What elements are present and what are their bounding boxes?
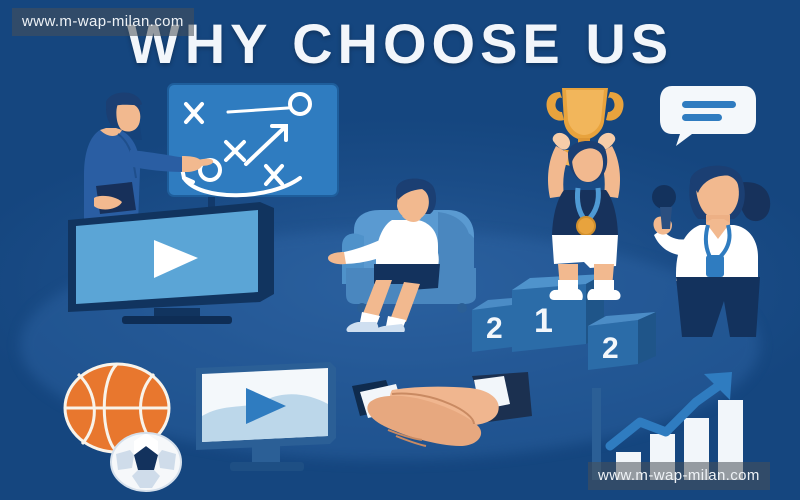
medal-icon bbox=[577, 217, 595, 235]
coach-face bbox=[116, 103, 140, 132]
monitor-base bbox=[230, 462, 304, 471]
bubble-line-1 bbox=[682, 101, 736, 108]
tv-base bbox=[122, 316, 232, 324]
tactics-board bbox=[168, 84, 338, 196]
monitor-play bbox=[190, 360, 340, 480]
trophy-handle-left bbox=[547, 92, 565, 121]
bubble-line-2 bbox=[682, 114, 722, 121]
seated-viewer bbox=[318, 172, 493, 332]
winner-shoe-left bbox=[550, 289, 583, 300]
winner-shorts bbox=[552, 235, 618, 268]
shoe-left bbox=[346, 322, 378, 332]
viewer-figure bbox=[328, 178, 440, 332]
id-badge bbox=[706, 255, 724, 277]
reporter-trousers bbox=[676, 277, 760, 337]
winner-shoe-right bbox=[587, 289, 620, 300]
trophy-handle-right bbox=[606, 92, 624, 121]
winner-with-trophy bbox=[520, 80, 660, 305]
podium-block-right bbox=[588, 312, 656, 370]
watermark-top: www.m-wap-milan.com bbox=[12, 8, 194, 36]
soccer-ball bbox=[108, 428, 184, 494]
podium-label-right: 2 bbox=[602, 332, 619, 365]
podium-label-left: 2 bbox=[486, 312, 503, 345]
television-play bbox=[62, 196, 282, 326]
speech-bubble bbox=[658, 82, 758, 148]
watermark-bottom: www.m-wap-milan.com bbox=[588, 462, 770, 490]
podium-label-center: 1 bbox=[534, 302, 553, 340]
chair-wheel-right bbox=[457, 303, 467, 313]
poster-canvas: 2 1 2 bbox=[0, 0, 800, 500]
reporter-with-microphone bbox=[654, 155, 794, 340]
monitor-stand bbox=[252, 446, 280, 464]
viewer-hand-left bbox=[328, 252, 346, 264]
winner-hand-left bbox=[553, 133, 570, 150]
handshake bbox=[352, 372, 532, 462]
